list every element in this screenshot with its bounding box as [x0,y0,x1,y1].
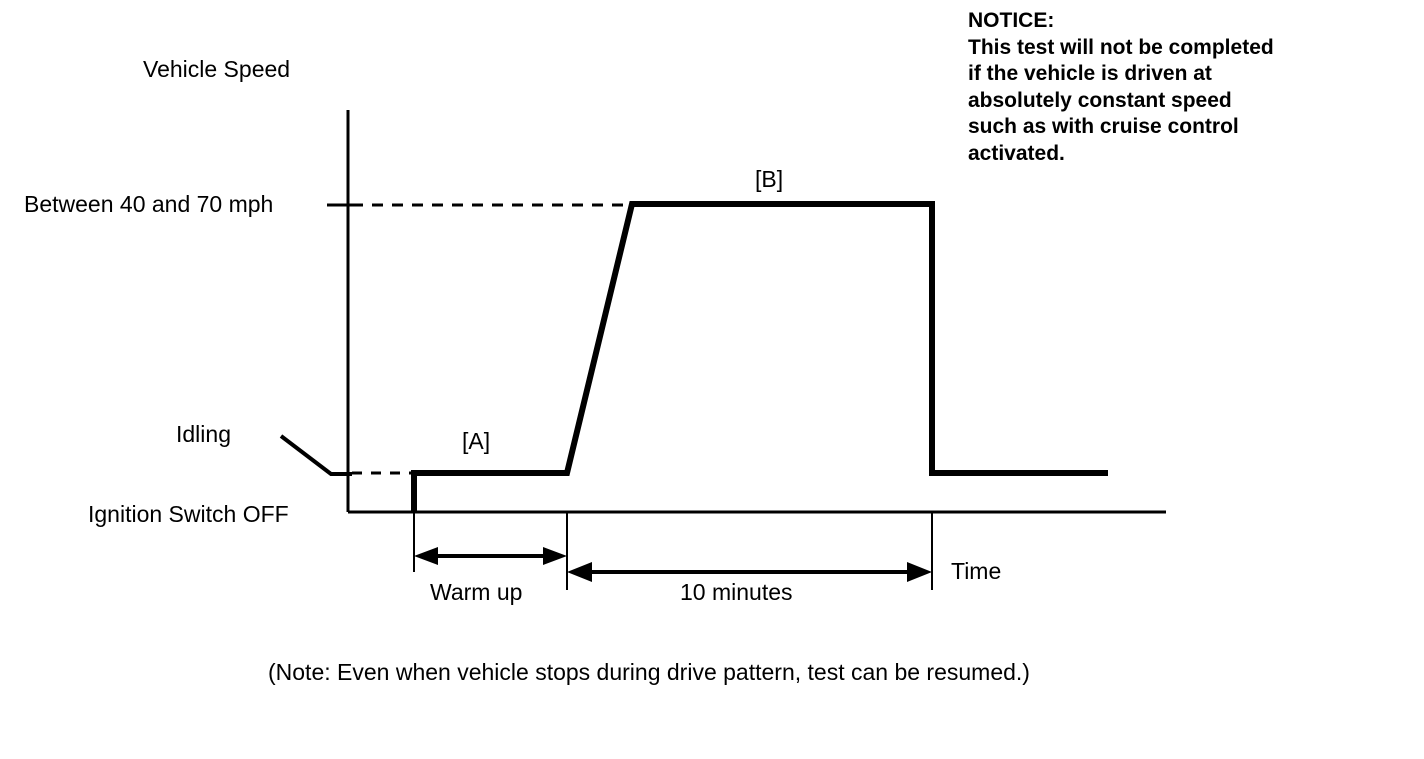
notice-line-1: This test will not be completed [968,35,1388,62]
y-tick-label-idling: Idling [176,423,231,446]
speed-trace [414,204,1108,512]
y-tick-label-ignition-off: Ignition Switch OFF [88,503,289,526]
notice-block: NOTICE: This test will not be completed … [968,8,1388,167]
marker-label-a: [A] [462,430,490,453]
x-axis-title: Time [951,560,1001,583]
drive-pattern-diagram: Vehicle Speed Between 40 and 70 mph Idli… [0,0,1424,759]
y-tick-label-speed: Between 40 and 70 mph [24,193,273,216]
span-label-warm-up: Warm up [430,581,522,604]
resume-note: (Note: Even when vehicle stops during dr… [268,661,1030,684]
notice-line-2: if the vehicle is driven at [968,61,1388,88]
notice-line-4: such as with cruise control [968,114,1388,141]
notice-heading: NOTICE: [968,8,1388,35]
span-label-ten-minutes: 10 minutes [680,581,793,604]
notice-line-3: absolutely constant speed [968,88,1388,115]
idling-leader-line [281,436,352,474]
marker-label-b: [B] [755,168,783,191]
y-axis-title: Vehicle Speed [143,58,290,81]
warm-up-span-arrow [414,547,567,565]
notice-line-5: activated. [968,141,1388,168]
